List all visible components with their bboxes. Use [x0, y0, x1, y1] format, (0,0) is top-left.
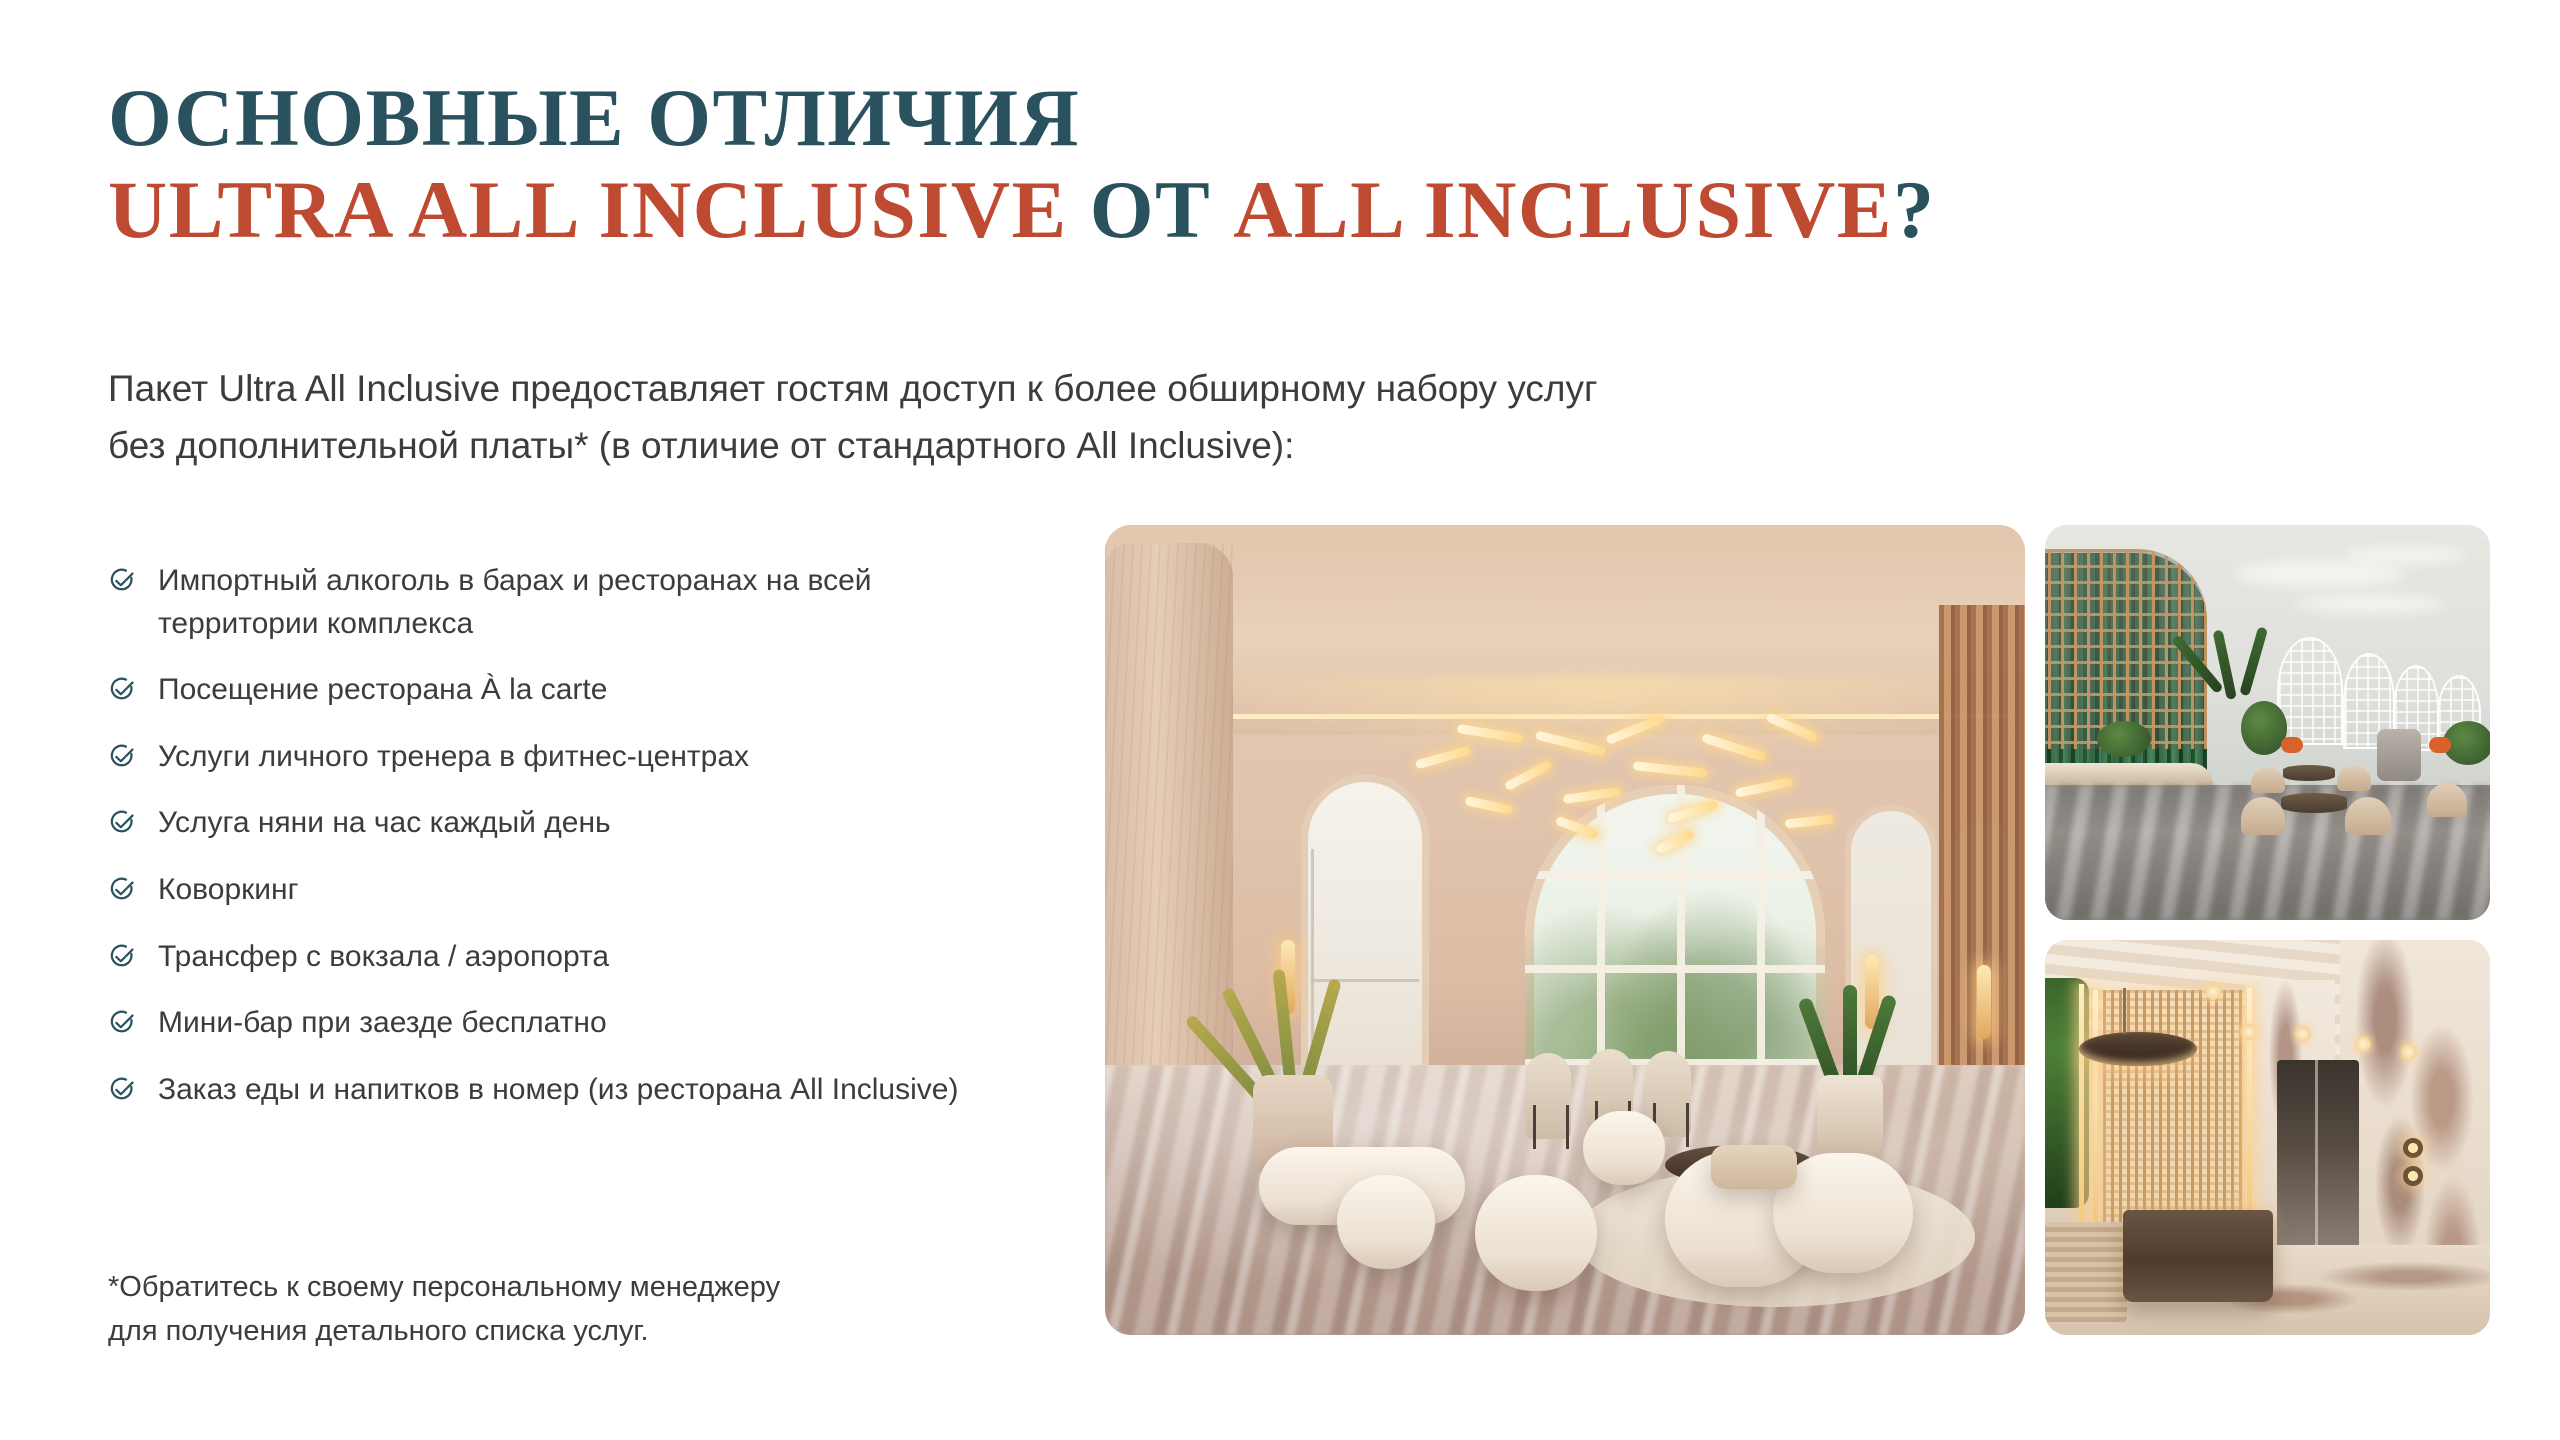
chandelier-icon — [1405, 713, 1845, 863]
list-item-label: Импортный алкоголь в барах и ресторанах … — [158, 560, 988, 645]
check-circle-icon — [108, 1075, 136, 1103]
check-circle-icon — [108, 875, 136, 903]
check-circle-icon — [108, 675, 136, 703]
list-item-label: Посещение ресторана À la carte — [158, 669, 607, 712]
check-circle-icon — [108, 1008, 136, 1036]
features-list: Импортный алкоголь в барах и ресторанах … — [108, 560, 1108, 1135]
list-item: Заказ еды и напитков в номер (из рестора… — [108, 1069, 1108, 1112]
list-item-label: Заказ еды и напитков в номер (из рестора… — [158, 1069, 958, 1112]
check-circle-icon — [108, 808, 136, 836]
list-item: Мини-бар при заезде бесплатно — [108, 1002, 1108, 1045]
list-item: Услуга няни на час каждый день — [108, 802, 1108, 845]
page-title: ОСНОВНЫЕ ОТЛИЧИЯ ULTRA ALL INCLUSIVE ОТ … — [108, 72, 2108, 256]
plant-icon — [1795, 975, 1905, 1165]
list-item: Коворкинг — [108, 869, 1108, 912]
rooftop-terrace-image — [2045, 525, 2490, 920]
lobby-image — [1105, 525, 2025, 1335]
intro-line-2: без дополнительной платы* (в отличие от … — [108, 417, 2038, 474]
image-gallery — [1105, 525, 2490, 1335]
title-all-inclusive: ALL INCLUSIVE — [1233, 164, 1893, 255]
list-item-label: Услуги личного тренера в фитнес-центрах — [158, 736, 749, 779]
check-circle-icon — [108, 742, 136, 770]
list-item: Услуги личного тренера в фитнес-центрах — [108, 736, 1108, 779]
list-item: Трансфер с вокзала / аэропорта — [108, 936, 1108, 979]
list-item-label: Мини-бар при заезде бесплатно — [158, 1002, 607, 1045]
reception-scene — [2045, 940, 2490, 1335]
lobby-scene — [1105, 525, 2025, 1335]
title-line-1: ОСНОВНЫЕ ОТЛИЧИЯ — [108, 72, 2108, 164]
title-ultra-all-inclusive: ULTRA ALL INCLUSIVE — [108, 164, 1068, 255]
title-question-mark: ? — [1893, 164, 1936, 255]
wave-chandelier-icon — [2079, 1032, 2197, 1066]
check-circle-icon — [108, 566, 136, 594]
list-item-label: Трансфер с вокзала / аэропорта — [158, 936, 609, 979]
slide: ОСНОВНЫЕ ОТЛИЧИЯ ULTRA ALL INCLUSIVE ОТ … — [0, 0, 2560, 1440]
intro-paragraph: Пакет Ultra All Inclusive предоставляет … — [108, 360, 2038, 475]
title-ot: ОТ — [1090, 164, 1211, 255]
footnote: *Обратитесь к своему персональному менед… — [108, 1265, 1008, 1353]
list-item: Импортный алкоголь в барах и ресторанах … — [108, 560, 1108, 645]
list-item-label: Коворкинг — [158, 869, 299, 912]
terrace-scene — [2045, 525, 2490, 920]
list-item: Посещение ресторана À la carte — [108, 669, 1108, 712]
footnote-line-1: *Обратитесь к своему персональному менед… — [108, 1265, 1008, 1309]
check-circle-icon — [108, 942, 136, 970]
footnote-line-2: для получения детального списка услуг. — [108, 1309, 1008, 1353]
reception-lobby-image — [2045, 940, 2490, 1335]
intro-line-1: Пакет Ultra All Inclusive предоставляет … — [108, 360, 2038, 417]
title-line-2: ULTRA ALL INCLUSIVE ОТ ALL INCLUSIVE? — [108, 164, 2108, 256]
list-item-label: Услуга няни на час каждый день — [158, 802, 611, 845]
